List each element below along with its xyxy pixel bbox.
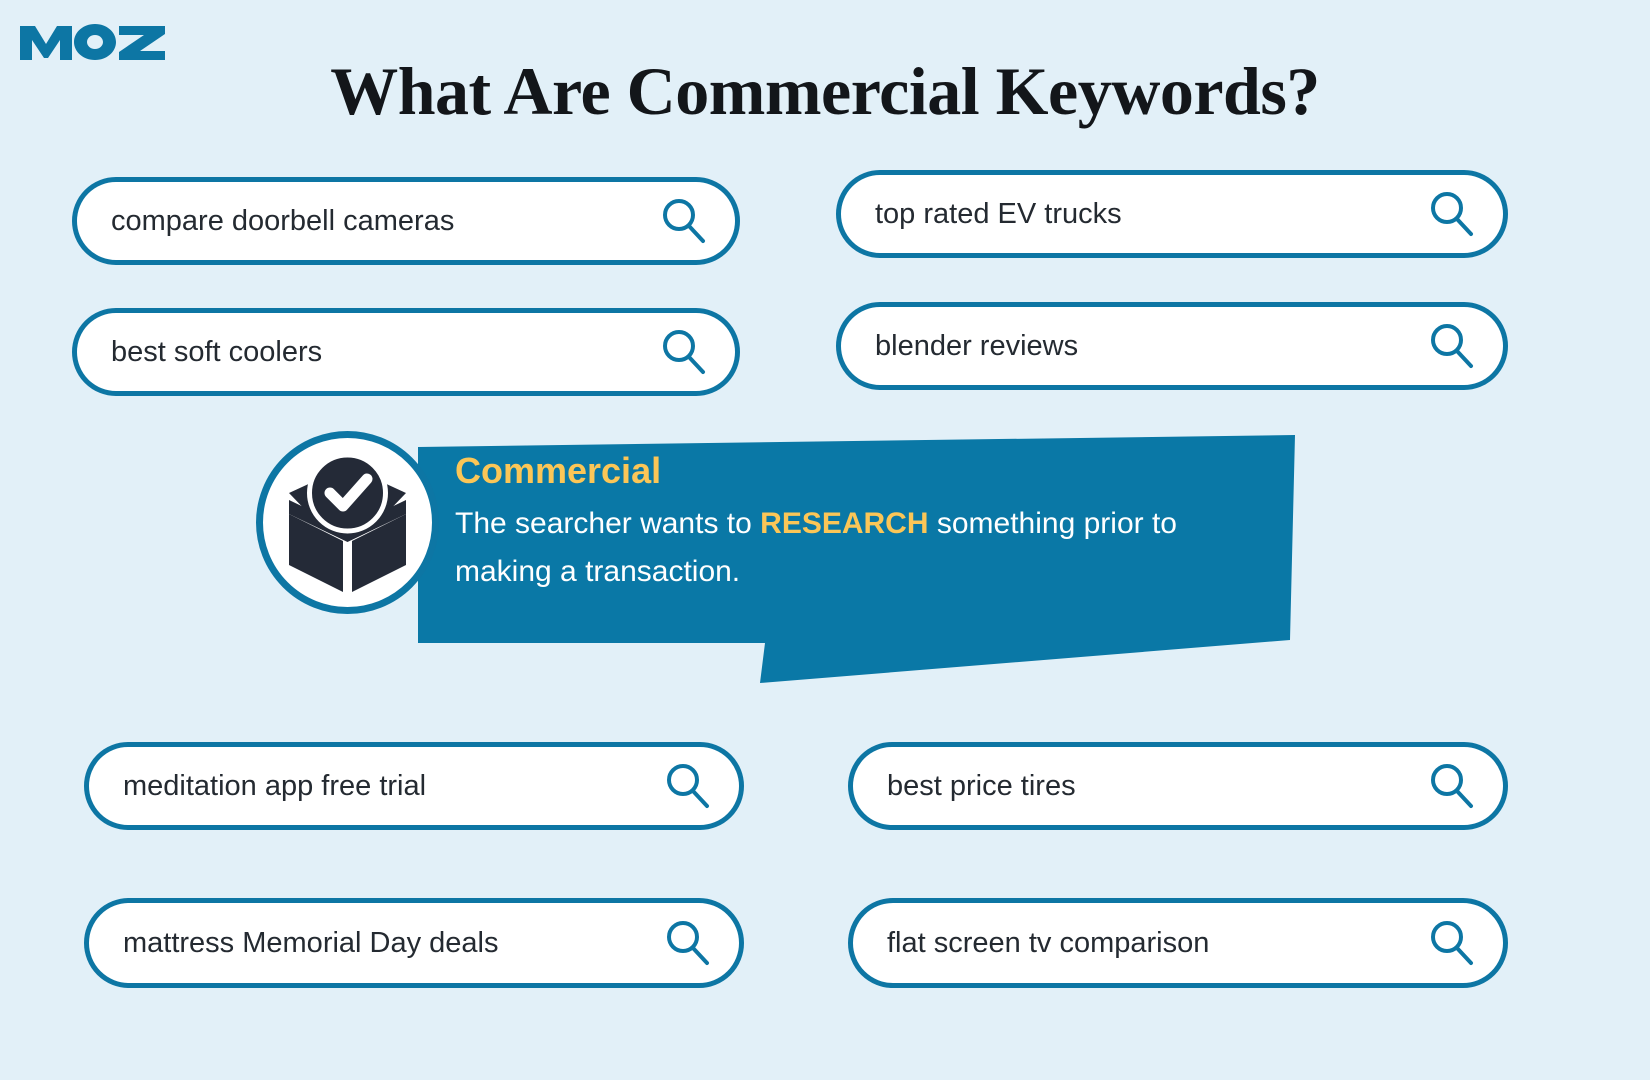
- search-pill-meditation-app-free-trial[interactable]: meditation app free trial: [84, 742, 744, 830]
- search-icon[interactable]: [657, 195, 709, 247]
- search-icon[interactable]: [661, 760, 713, 812]
- search-pill-text: best price tires: [887, 770, 1076, 803]
- commercial-callout: Commercial The searcher wants to RESEARC…: [300, 425, 1295, 690]
- callout-heading: Commercial: [455, 449, 1245, 492]
- search-icon[interactable]: [661, 917, 713, 969]
- search-pill-text: meditation app free trial: [123, 770, 426, 803]
- search-pill-flat-screen-tv-comparison[interactable]: flat screen tv comparison: [848, 898, 1508, 988]
- search-pill-text: top rated EV trucks: [875, 198, 1122, 231]
- search-icon[interactable]: [1425, 917, 1477, 969]
- box-with-checkmark-icon: [255, 430, 440, 615]
- search-pill-text: compare doorbell cameras: [111, 205, 454, 238]
- search-icon[interactable]: [657, 326, 709, 378]
- callout-description-highlight: RESEARCH: [760, 507, 928, 540]
- search-pill-mattress-memorial-day-deals[interactable]: mattress Memorial Day deals: [84, 898, 744, 988]
- search-pill-best-soft-coolers[interactable]: best soft coolers: [72, 308, 740, 396]
- search-pill-text: flat screen tv comparison: [887, 927, 1209, 960]
- search-pill-compare-doorbell-cameras[interactable]: compare doorbell cameras: [72, 177, 740, 265]
- search-pill-top-rated-ev-trucks[interactable]: top rated EV trucks: [836, 170, 1508, 258]
- callout-description-part1: The searcher wants to: [455, 507, 760, 540]
- search-pill-text: best soft coolers: [111, 336, 322, 369]
- search-icon[interactable]: [1425, 320, 1477, 372]
- infographic-canvas: { "brand": { "logo_text": "MOZ", "logo_c…: [0, 0, 1650, 1080]
- page-title: What Are Commercial Keywords?: [0, 52, 1650, 131]
- callout-description: The searcher wants to RESEARCH something…: [455, 500, 1225, 596]
- search-icon[interactable]: [1425, 760, 1477, 812]
- search-icon[interactable]: [1425, 188, 1477, 240]
- search-pill-text: mattress Memorial Day deals: [123, 927, 499, 960]
- search-pill-text: blender reviews: [875, 330, 1078, 363]
- search-pill-blender-reviews[interactable]: blender reviews: [836, 302, 1508, 390]
- search-pill-best-price-tires[interactable]: best price tires: [848, 742, 1508, 830]
- callout-text-block: Commercial The searcher wants to RESEARC…: [455, 449, 1245, 596]
